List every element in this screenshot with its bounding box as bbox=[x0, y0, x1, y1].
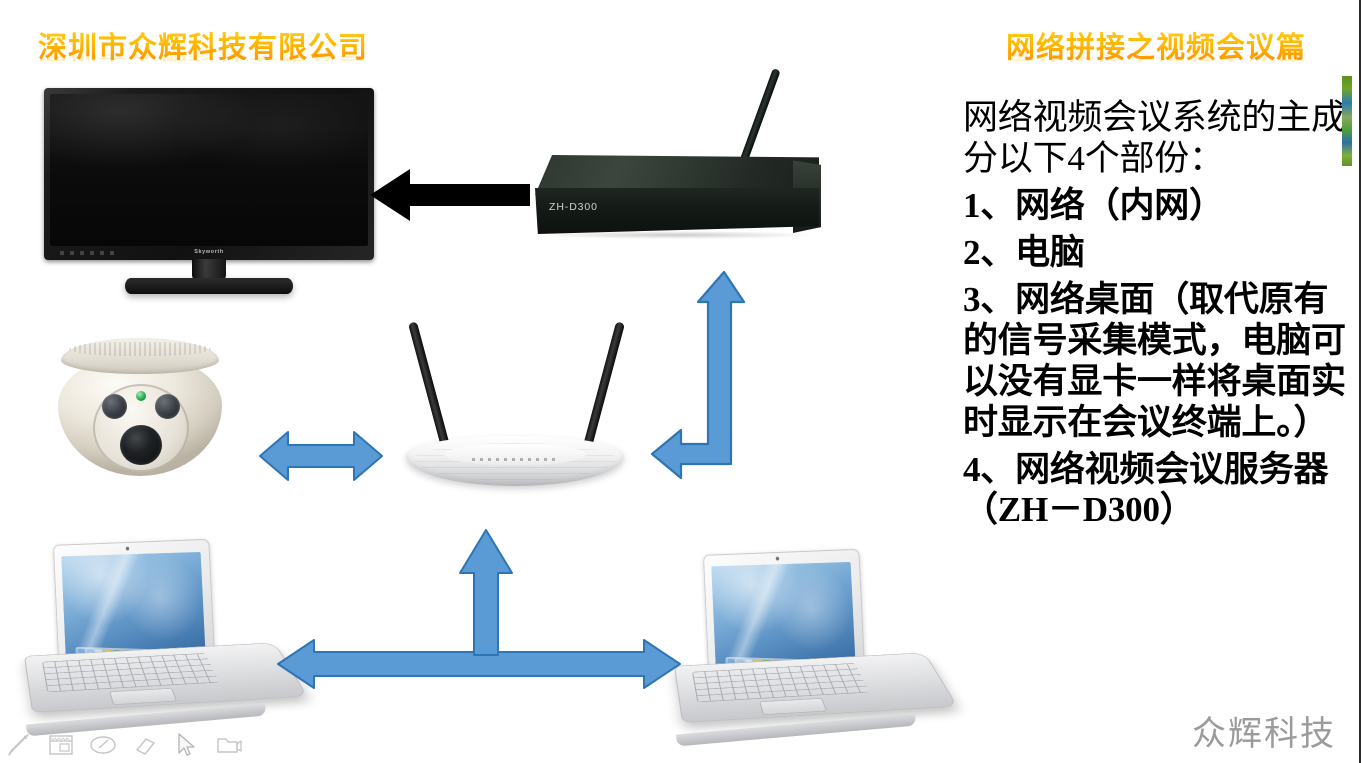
camera-ir-led-right bbox=[155, 394, 180, 419]
server-model-label: ZH-D300 bbox=[549, 201, 598, 213]
laptop-left-webcam bbox=[126, 547, 130, 551]
tv-control-row bbox=[60, 251, 118, 255]
intro-paragraph: 网络视频会议系统的主成分以下4个部份： bbox=[963, 98, 1355, 180]
camera-ir-led-left bbox=[102, 394, 127, 419]
tv-stand-base bbox=[125, 278, 293, 294]
tv-bezel bbox=[44, 88, 374, 260]
pen-icon[interactable] bbox=[4, 731, 34, 759]
laptop-right-webcam bbox=[776, 557, 780, 561]
eraser-icon[interactable] bbox=[130, 731, 160, 759]
server-antenna bbox=[737, 68, 780, 169]
marker-ellipse-icon[interactable] bbox=[88, 731, 118, 759]
description-panel: 网络视频会议系统的主成分以下4个部份： 1、网络（内网） 2、电脑 3、网络桌面… bbox=[963, 98, 1355, 537]
laptop-left-image bbox=[16, 538, 284, 746]
folder-icon[interactable] bbox=[214, 731, 244, 759]
presentation-slide: 深圳市众辉科技有限公司 网络拼接之视频会议篇 网络视频会议系统的主成分以下4个部… bbox=[0, 0, 1361, 763]
server-zh-d300-image: ZH-D300 bbox=[505, 55, 855, 270]
laptop-left-keyboard bbox=[42, 653, 219, 692]
server-shadow bbox=[539, 231, 815, 239]
router-antenna-left bbox=[408, 321, 451, 451]
slide-window-icon[interactable] bbox=[46, 731, 76, 759]
tv-display-image: Skyworth bbox=[44, 88, 374, 298]
dome-camera-image bbox=[58, 338, 223, 480]
list-item-1: 1、网络（内网） bbox=[963, 186, 1355, 227]
presentation-toolbar[interactable] bbox=[4, 731, 244, 759]
arrow-server-to-tv bbox=[370, 167, 530, 223]
edge-color-strip bbox=[1342, 76, 1352, 166]
arrow-camera-router bbox=[258, 427, 384, 485]
camera-collar bbox=[61, 338, 219, 374]
laptop-right-image bbox=[666, 548, 934, 756]
laptop-left-trackpad bbox=[109, 688, 177, 705]
laptop-right-keyboard bbox=[692, 663, 869, 702]
laptop-right-base bbox=[674, 652, 958, 722]
arrow-router-to-server bbox=[636, 268, 746, 482]
router-led-strip bbox=[472, 458, 560, 461]
router-top-panel bbox=[444, 444, 586, 465]
router-antenna-right bbox=[582, 321, 625, 451]
camera-status-led bbox=[136, 391, 146, 401]
list-item-2: 2、电脑 bbox=[963, 233, 1355, 274]
camera-lens bbox=[120, 425, 162, 465]
tv-screen bbox=[50, 94, 368, 246]
cursor-arrow-icon[interactable] bbox=[172, 731, 202, 759]
list-item-3: 3、网络桌面（取代原有的信号采集模式，电脑可以没有显卡一样将桌面实时显示在会议终… bbox=[963, 280, 1355, 444]
tv-brand-label: Skyworth bbox=[194, 249, 224, 255]
arrow-stem-to-router bbox=[454, 527, 518, 657]
wireless-router-image bbox=[400, 312, 630, 497]
camera-faceplate bbox=[93, 384, 189, 472]
laptop-right-trackpad bbox=[759, 698, 827, 715]
laptop-left-base bbox=[24, 642, 308, 712]
topic-title: 网络拼接之视频会议篇 bbox=[1006, 24, 1306, 66]
list-item-4: 4、网络视频会议服务器（ZH－D300） bbox=[963, 450, 1355, 532]
company-title: 深圳市众辉科技有限公司 bbox=[38, 24, 368, 66]
watermark: 众辉科技 bbox=[1192, 706, 1336, 755]
